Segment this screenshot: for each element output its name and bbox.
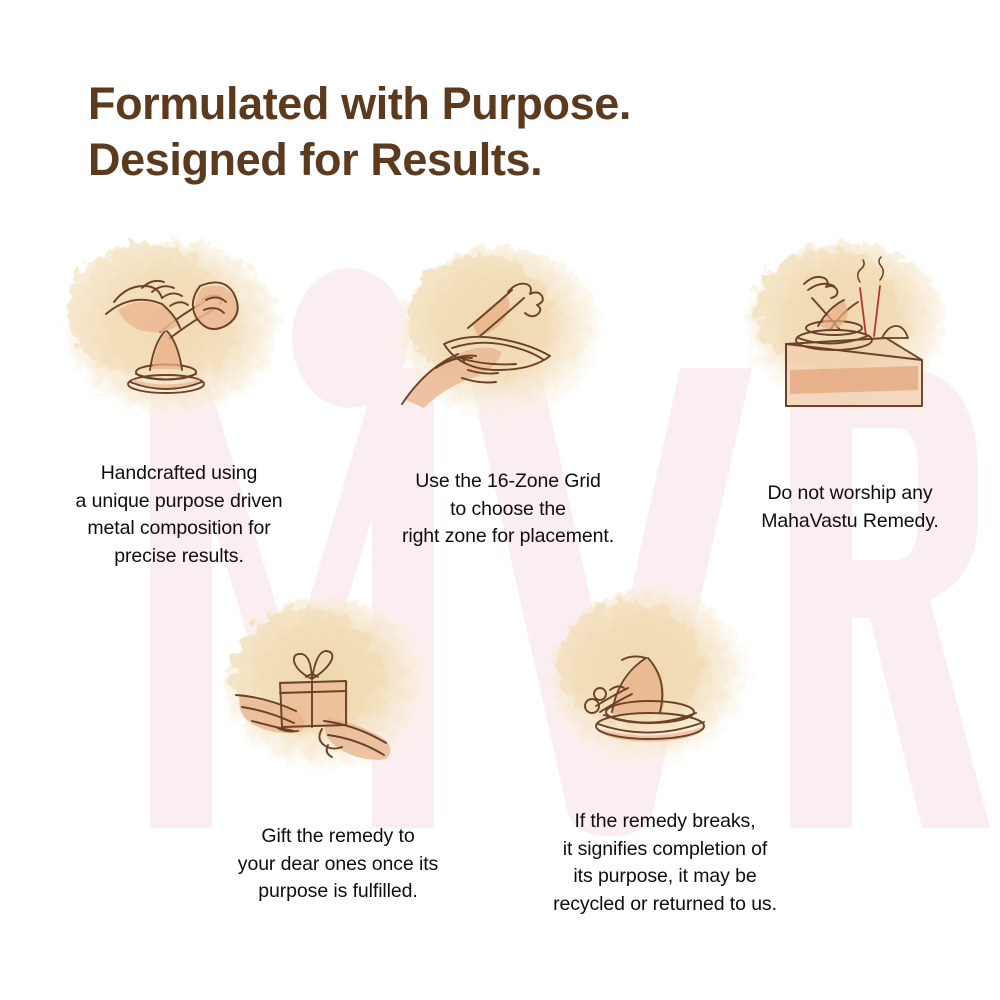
caption-line: your dear ones once its bbox=[178, 851, 498, 879]
illustration-do-not-worship bbox=[690, 230, 1000, 440]
page-title: Formulated with Purpose. Designed for Re… bbox=[88, 76, 928, 188]
broken-remedy-icon bbox=[500, 578, 830, 788]
infographic-canvas: Formulated with Purpose. Designed for Re… bbox=[0, 0, 1000, 1000]
caption-line: to choose the bbox=[348, 496, 668, 524]
card-caption-handcrafted: Handcrafted using a unique purpose drive… bbox=[14, 460, 344, 571]
caption-line: Do not worship any bbox=[690, 480, 1000, 508]
caption-line: a unique purpose driven bbox=[14, 488, 344, 516]
caption-line: Gift the remedy to bbox=[178, 823, 498, 851]
page-title-line-1: Formulated with Purpose. bbox=[88, 76, 928, 132]
card-caption-zone-grid: Use the 16-Zone Grid to choose the right… bbox=[348, 468, 668, 551]
feature-card-do-not-worship: Do not worship any MahaVastu Remedy. bbox=[690, 230, 1000, 535]
feature-card-gift-remedy: Gift the remedy to your dear ones once i… bbox=[178, 585, 498, 906]
caption-line: right zone for placement. bbox=[348, 523, 668, 551]
card-caption-do-not-worship: Do not worship any MahaVastu Remedy. bbox=[690, 480, 1000, 535]
caption-line: it signifies completion of bbox=[500, 836, 830, 864]
page-title-line-2: Designed for Results. bbox=[88, 132, 928, 188]
feature-card-zone-grid: Use the 16-Zone Grid to choose the right… bbox=[348, 232, 668, 551]
caption-line: its purpose, it may be bbox=[500, 863, 830, 891]
hand-holding-remedy-icon bbox=[348, 232, 668, 442]
feature-card-broken-remedy: If the remedy breaks, it signifies compl… bbox=[500, 578, 830, 919]
caption-line: metal composition for bbox=[14, 515, 344, 543]
illustration-gift-remedy bbox=[178, 585, 498, 795]
card-caption-broken-remedy: If the remedy breaks, it signifies compl… bbox=[500, 808, 830, 919]
illustration-broken-remedy bbox=[500, 578, 830, 788]
illustration-handcrafted bbox=[14, 226, 344, 436]
caption-line: precise results. bbox=[14, 543, 344, 571]
remedy-on-altar-with-incense-icon bbox=[690, 230, 1000, 440]
card-caption-gift-remedy: Gift the remedy to your dear ones once i… bbox=[178, 823, 498, 906]
caption-line: recycled or returned to us. bbox=[500, 891, 830, 919]
illustration-zone-grid bbox=[348, 232, 668, 442]
caption-line: If the remedy breaks, bbox=[500, 808, 830, 836]
feature-card-handcrafted: Handcrafted using a unique purpose drive… bbox=[14, 226, 344, 571]
caption-line: Handcrafted using bbox=[14, 460, 344, 488]
caption-line: purpose is fulfilled. bbox=[178, 878, 498, 906]
gift-handover-icon bbox=[178, 585, 498, 795]
hands-crafting-remedy-icon bbox=[14, 226, 344, 436]
caption-line: Use the 16-Zone Grid bbox=[348, 468, 668, 496]
caption-line: MahaVastu Remedy. bbox=[690, 508, 1000, 536]
